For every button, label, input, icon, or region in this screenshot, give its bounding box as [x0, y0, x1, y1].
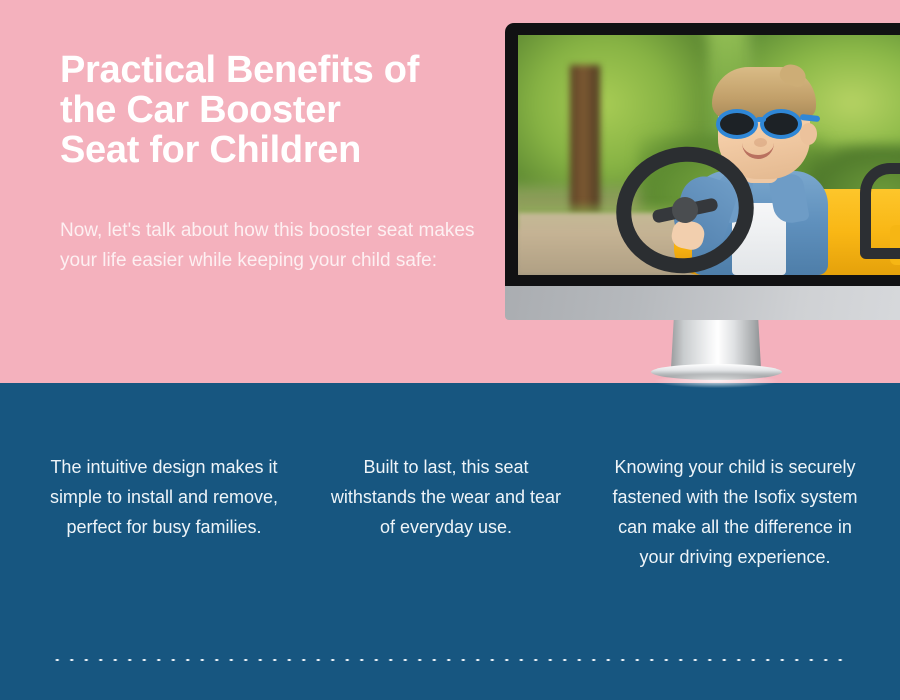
steering-wheel-hub [670, 195, 701, 226]
child-in-toy-car-photo [518, 35, 900, 275]
page-title-line-3: Seat for Children [60, 130, 480, 170]
page-subtitle: Now, let's talk about how this booster s… [60, 216, 480, 276]
monitor-stand-neck [671, 320, 761, 368]
page-title-line-2: the Car Booster [60, 90, 480, 130]
toy-car-seat [860, 163, 900, 259]
monitor-illustration [505, 23, 900, 320]
monitor-screen [518, 35, 900, 275]
blue-sunglasses-icon [718, 109, 814, 139]
monitor-chin [505, 286, 900, 320]
sunglasses-lens-right [760, 109, 802, 139]
page-title-line-1: Practical Benefits of [60, 50, 480, 90]
headline-block: Practical Benefits of the Car Booster Se… [60, 50, 480, 170]
horizontal-dotted-divider [50, 657, 850, 663]
infographic-canvas: Practical Benefits of the Car Booster Se… [0, 0, 900, 700]
page-title: Practical Benefits of the Car Booster Se… [60, 50, 480, 170]
benefit-column-1: The intuitive design makes it simple to … [44, 452, 284, 542]
benefit-column-3: Knowing your child is securely fastened … [610, 452, 860, 572]
sunglasses-bridge [756, 117, 766, 122]
sunglasses-temple [800, 114, 821, 122]
benefit-column-2: Built to last, this seat withstands the … [326, 452, 566, 542]
sunglasses-lens-left [716, 109, 758, 139]
